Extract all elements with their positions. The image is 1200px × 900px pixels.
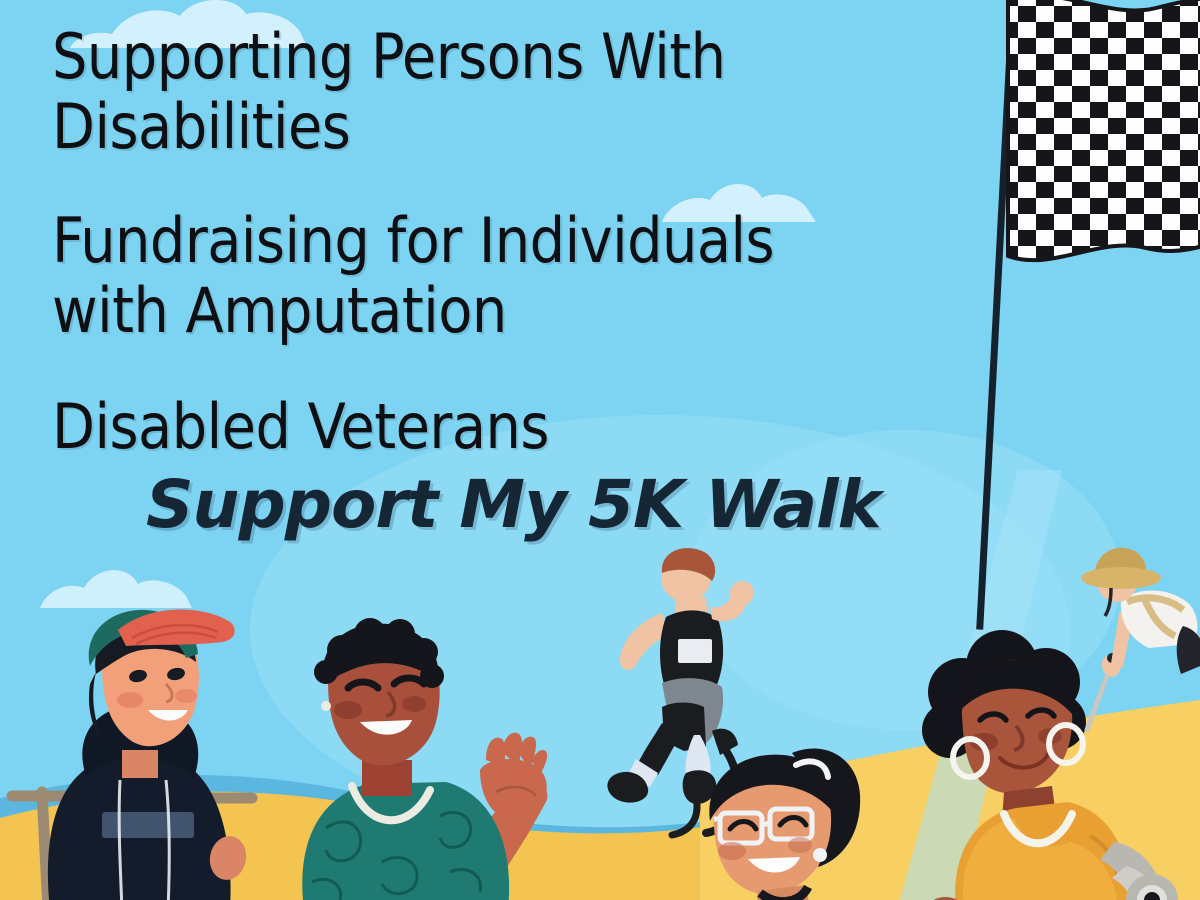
figure-man-with-crutches: [0, 600, 330, 900]
walking-cane-icon: [1087, 670, 1109, 730]
high-five-hand-icon: [480, 733, 547, 821]
headline-line-1: Supporting Persons With Disabilities: [52, 22, 912, 162]
headline-line-3: Disabled Veterans: [52, 392, 912, 462]
figure-girl-with-glasses: [660, 735, 910, 900]
figure-man-in-teal-shirt: [290, 610, 640, 900]
poster-canvas: Supporting Persons With Disabilities Fun…: [0, 0, 1200, 900]
headline-line-2: Fundraising for Individuals with Amputat…: [52, 206, 912, 346]
headline-block: Supporting Persons With Disabilities Fun…: [52, 22, 912, 542]
figure-man-with-cane: [1065, 530, 1200, 730]
poster-tagline: Support My 5K Walk: [52, 468, 912, 542]
